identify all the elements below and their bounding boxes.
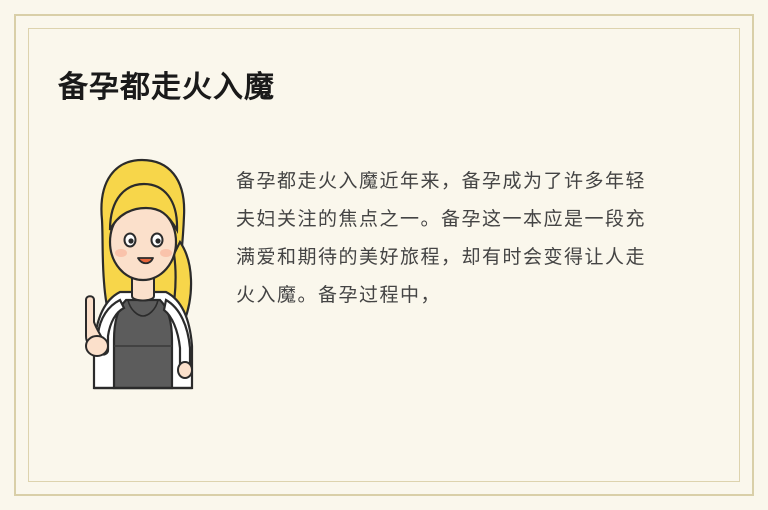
woman-pointing-up-illustration (68, 150, 218, 395)
page-title: 备孕都走火入魔 (58, 62, 275, 106)
document-page: 备孕都走火入魔 (0, 0, 768, 510)
article-content: 备孕都走火入魔近年来，备孕成为了许多年轻夫妇关注的焦点之一。备孕这一本应是一段充… (58, 140, 658, 390)
article-body: 备孕都走火入魔近年来，备孕成为了许多年轻夫妇关注的焦点之一。备孕这一本应是一段充… (236, 162, 646, 314)
